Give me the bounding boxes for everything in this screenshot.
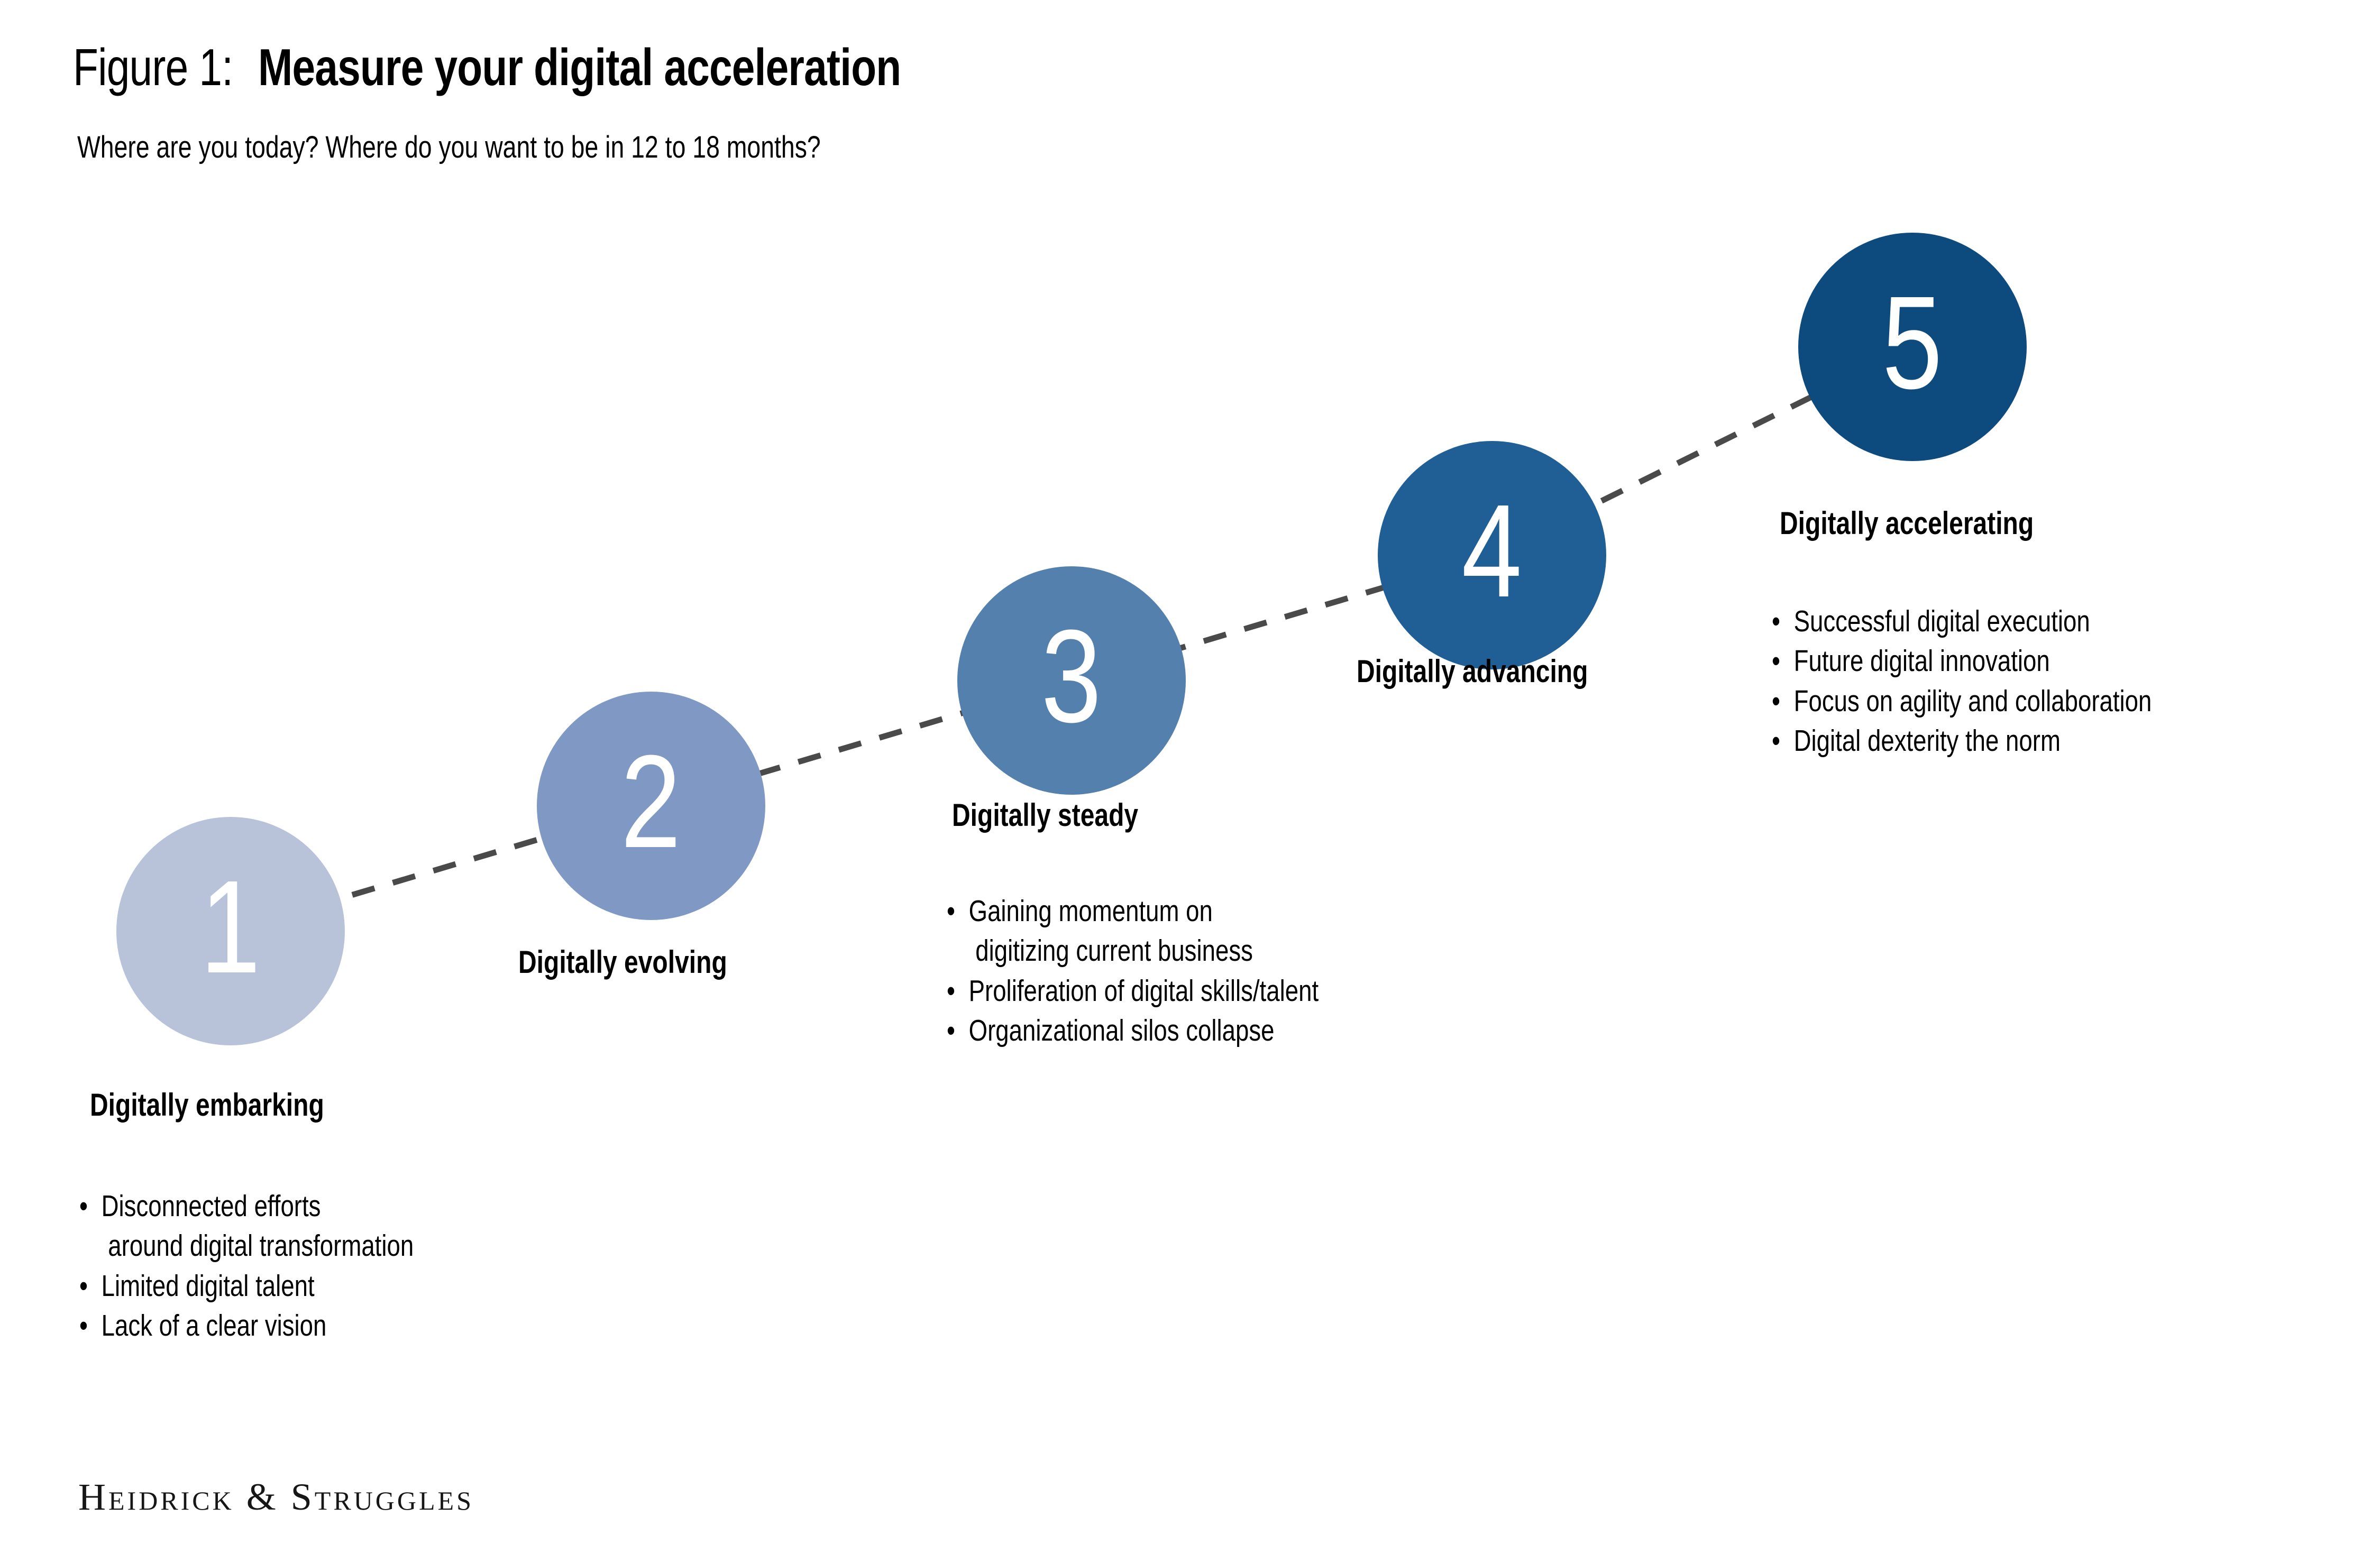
list-item: Focus on agility and collaboration bbox=[1772, 684, 2380, 719]
list-item: Disconnected efforts bbox=[79, 1189, 756, 1224]
list-item: digitizing current business bbox=[947, 933, 1666, 969]
stage-heading-5: Digitally accelerating bbox=[1780, 508, 2034, 539]
list-item: Future digital innovation bbox=[1772, 643, 2380, 679]
stage-heading-3: Digitally steady bbox=[952, 799, 1138, 831]
maturity-stage-diagram: 1 Digitally embarking Disconnected effor… bbox=[0, 0, 2380, 1563]
list-item: Gaining momentum on bbox=[947, 894, 1666, 929]
stage-heading-2: Digitally evolving bbox=[518, 946, 727, 978]
stage-bullets-3: Gaining momentum on digitizing current b… bbox=[947, 894, 1666, 1053]
list-item: Successful digital execution bbox=[1772, 604, 2380, 639]
list-item: Proliferation of digital skills/talent bbox=[947, 973, 1666, 1009]
figure-page: Figure 1:Measure your digital accelerati… bbox=[0, 0, 2380, 1563]
stage-number-3: 3 bbox=[1041, 610, 1102, 742]
stage-number-5: 5 bbox=[1882, 277, 1943, 409]
list-item: Lack of a clear vision bbox=[79, 1308, 756, 1344]
stage-number-1: 1 bbox=[200, 861, 261, 993]
stage-number-2: 2 bbox=[621, 735, 681, 868]
stage-bullets-5: Successful digital execution Future digi… bbox=[1772, 604, 2380, 763]
stage-heading-1: Digitally embarking bbox=[90, 1089, 324, 1121]
stage-circle-1[interactable]: 1 bbox=[116, 817, 345, 1045]
stage-circle-3[interactable]: 3 bbox=[957, 566, 1186, 795]
stage-bullets-1: Disconnected efforts around digital tran… bbox=[79, 1189, 756, 1348]
stage-circle-5[interactable]: 5 bbox=[1798, 233, 2027, 461]
list-item: Limited digital talent bbox=[79, 1268, 756, 1304]
list-item: around digital transformation bbox=[79, 1228, 756, 1264]
list-item: Organizational silos collapse bbox=[947, 1013, 1666, 1049]
list-item: Digital dexterity the norm bbox=[1772, 723, 2380, 759]
stage-heading-4: Digitally advancing bbox=[1357, 656, 1588, 687]
stage-number-4: 4 bbox=[1462, 485, 1522, 617]
stage-circle-2[interactable]: 2 bbox=[537, 692, 765, 920]
company-logo: Heidrick & Struggles bbox=[78, 1475, 474, 1519]
stage-circle-4[interactable]: 4 bbox=[1378, 441, 1606, 669]
